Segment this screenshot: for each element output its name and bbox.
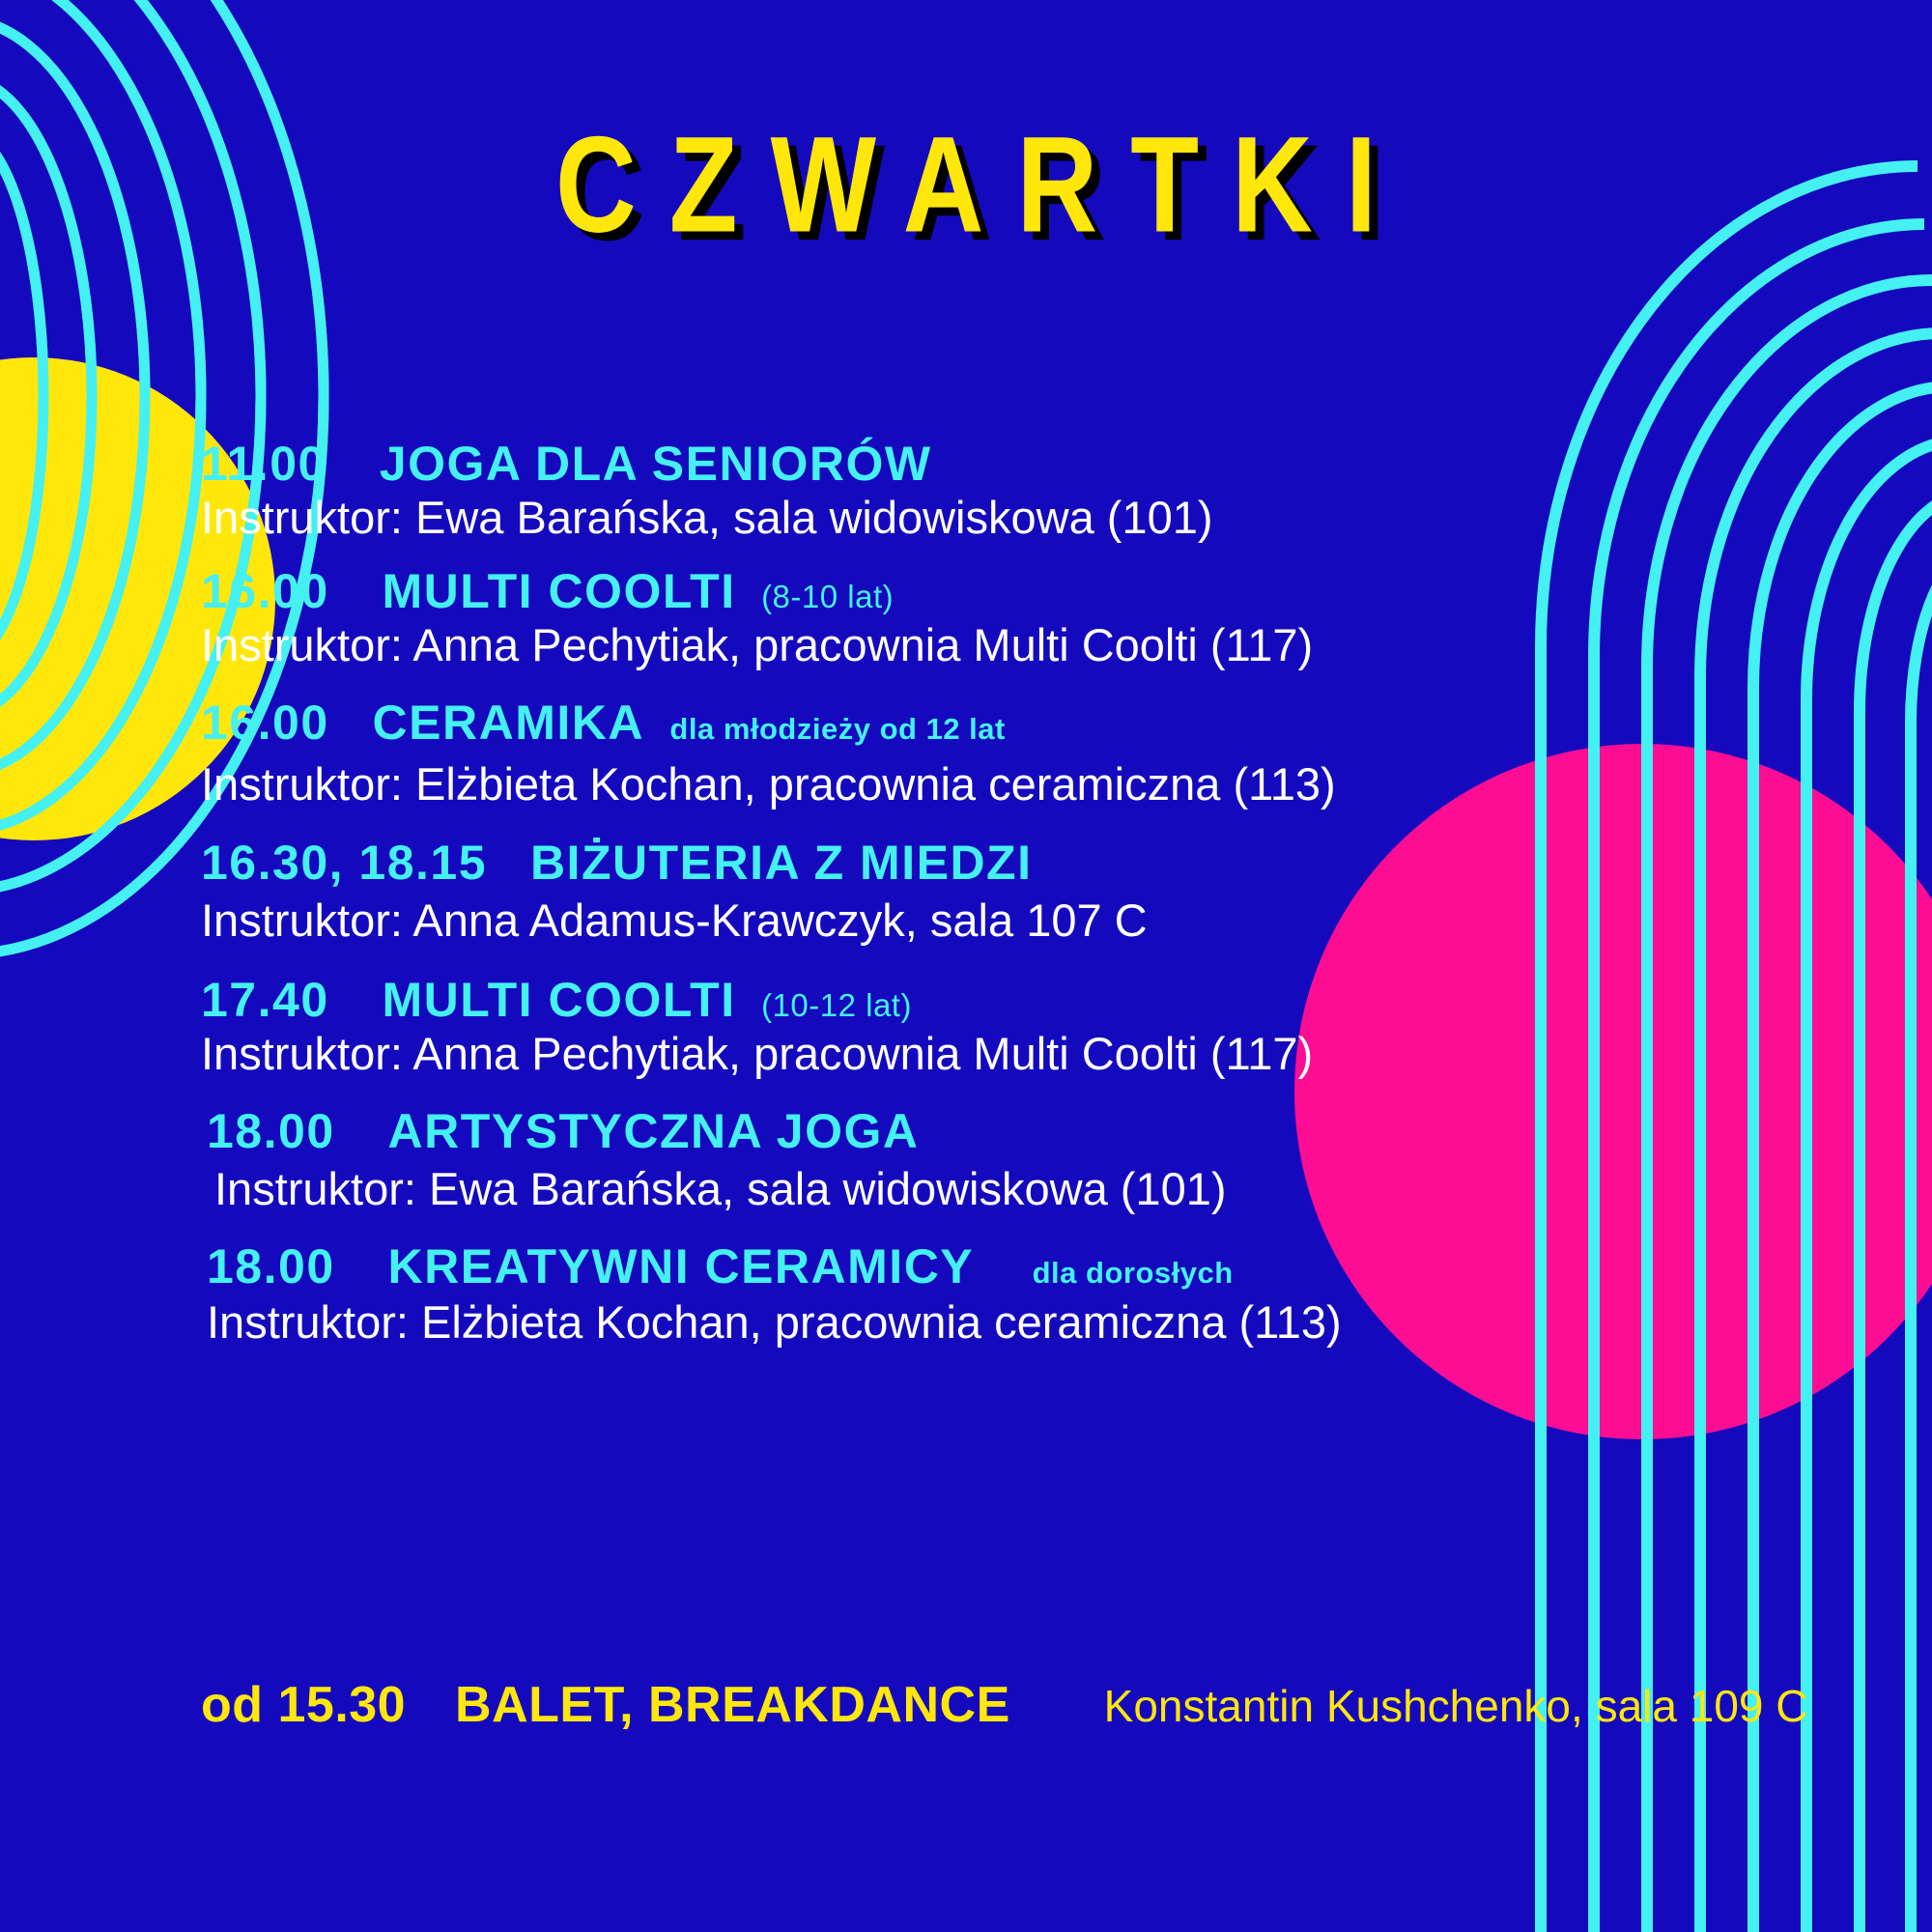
entry-name: ARTYSTYCZNA JOGA [388, 1104, 920, 1158]
entry-time: 18.00 [207, 1239, 335, 1293]
schedule-entry: 16.00 CERAMIKA dla młodzieży od 12 lat I… [201, 698, 1785, 809]
entry-heading: 16.00 CERAMIKA dla młodzieży od 12 lat [201, 698, 1785, 747]
entry-time: 11.00 [201, 437, 327, 491]
entry-instructor: Instruktor: Anna Pechytiak, pracownia Mu… [201, 1030, 1785, 1078]
entry-note: dla młodzieży od 12 lat [669, 712, 1005, 746]
entry-heading: 11.00 JOGA DLA SENIORÓW [201, 440, 1785, 488]
footer-instructor: Konstantin Kushchenko, sala 109 C [1104, 1681, 1808, 1731]
entry-instructor: Instruktor: Elżbieta Kochan, pracownia c… [207, 1298, 1785, 1347]
entry-name: BIŻUTERIA Z MIEDZI [530, 836, 1033, 890]
entry-heading: 18.00 ARTYSTYCZNA JOGA [207, 1107, 1785, 1155]
entry-instructor: Instruktor: Anna Pechytiak, pracownia Mu… [201, 621, 1785, 669]
entry-note: dla dorosłych [1033, 1256, 1234, 1290]
entry-note: (10-12 lat) [761, 987, 912, 1023]
footer-line: od 15.30 BALET, BREAKDANCE Konstantin Ku… [201, 1676, 1807, 1734]
schedule-entry: 18.00 ARTYSTYCZNA JOGA Instruktor: Ewa B… [201, 1107, 1785, 1213]
schedule-entry: 17.40 MULTI COOLTI (10-12 lat) Instrukto… [201, 976, 1785, 1078]
entry-time: 17.40 [201, 973, 329, 1027]
entry-name: KREATYWNI CERAMICY [388, 1239, 975, 1293]
entry-time: 16.00 [201, 696, 329, 750]
schedule-entry: 11.00 JOGA DLA SENIORÓW Instruktor: Ewa … [201, 440, 1785, 542]
schedule-list: 11.00 JOGA DLA SENIORÓW Instruktor: Ewa … [201, 440, 1785, 1347]
entry-name: CERAMIKA [373, 696, 644, 750]
poster-canvas: CZWARTKI 11.00 JOGA DLA SENIORÓW Instruk… [0, 0, 1932, 1932]
footer-time: od 15.30 [201, 1677, 406, 1733]
entry-time: 18.00 [207, 1104, 335, 1158]
title-container: CZWARTKI [0, 116, 1932, 228]
footer-name: BALET, BREAKDANCE [455, 1677, 1010, 1733]
entry-heading: 16.30, 18.15 BIŻUTERIA Z MIEDZI [201, 838, 1785, 887]
entry-time: 16.00 [201, 564, 329, 618]
entry-time: 16.30, 18.15 [201, 836, 487, 890]
entry-note: (8-10 lat) [761, 579, 894, 614]
schedule-entry: 16.00 MULTI COOLTI (8-10 lat) Instruktor… [201, 567, 1785, 669]
entry-instructor: Instruktor: Ewa Barańska, sala widowisko… [207, 1165, 1785, 1213]
entry-instructor: Instruktor: Anna Adamus-Krawczyk, sala 1… [201, 896, 1785, 945]
page-title: CZWARTKI [523, 116, 1409, 253]
entry-heading: 17.40 MULTI COOLTI (10-12 lat) [201, 976, 1785, 1024]
entry-name: JOGA DLA SENIORÓW [380, 437, 932, 491]
entry-name: MULTI COOLTI [383, 564, 736, 618]
entry-heading: 16.00 MULTI COOLTI (8-10 lat) [201, 567, 1785, 615]
schedule-entry: 16.30, 18.15 BIŻUTERIA Z MIEDZI Instrukt… [201, 838, 1785, 945]
entry-name: MULTI COOLTI [383, 973, 736, 1027]
entry-instructor: Instruktor: Ewa Barańska, sala widowisko… [201, 494, 1785, 542]
entry-instructor: Instruktor: Elżbieta Kochan, pracownia c… [201, 760, 1785, 809]
schedule-entry: 18.00 KREATYWNI CERAMICY dla dorosłych I… [201, 1242, 1785, 1347]
entry-heading: 18.00 KREATYWNI CERAMICY dla dorosłych [207, 1242, 1785, 1291]
